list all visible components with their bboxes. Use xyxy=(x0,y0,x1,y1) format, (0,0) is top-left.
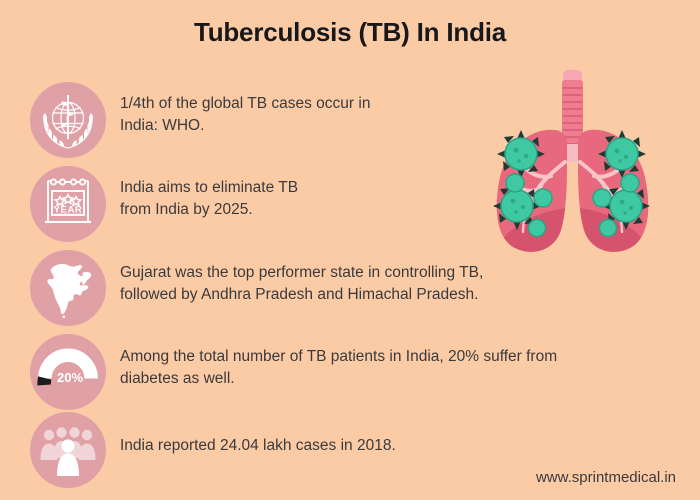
lungs-illustration xyxy=(455,58,690,293)
fact-row: India reported 24.04 lakh cases in 2018. xyxy=(30,412,396,488)
page-title: Tuberculosis (TB) In India xyxy=(0,17,700,48)
bacteria-icon xyxy=(497,130,545,178)
bacteria-icon xyxy=(593,189,611,207)
fact-row: YEAR India aims to eliminate TB from Ind… xyxy=(30,166,298,242)
fact-row: Gujarat was the top performer state in c… xyxy=(30,250,483,326)
fact-row: 1/4th of the global TB cases occur in In… xyxy=(30,82,370,158)
donut-value-label: 20% xyxy=(57,370,83,385)
infographic-canvas: Tuberculosis (TB) In India xyxy=(0,0,700,500)
fact-row: 20% Among the total number of TB patient… xyxy=(30,334,557,410)
bacteria-icon xyxy=(534,189,552,207)
bacteria-icon xyxy=(598,130,646,178)
fact-text: India reported 24.04 lakh cases in 2018. xyxy=(120,412,396,457)
calendar-year-icon: YEAR xyxy=(30,166,106,242)
people-group-icon xyxy=(30,412,106,488)
fact-text: Among the total number of TB patients in… xyxy=(120,334,557,391)
bacteria-icon xyxy=(506,174,524,192)
india-map-icon xyxy=(30,250,106,326)
fact-text: Gujarat was the top performer state in c… xyxy=(120,250,483,307)
fact-text: India aims to eliminate TB from India by… xyxy=(120,166,298,222)
bacteria-icon xyxy=(529,220,546,237)
bacteria-icon xyxy=(621,174,639,192)
footer-url: www.sprintmedical.in xyxy=(536,469,676,486)
fact-text: 1/4th of the global TB cases occur in In… xyxy=(120,82,370,138)
who-logo-icon xyxy=(30,82,106,158)
donut-chart-icon: 20% xyxy=(30,334,106,410)
bacteria-icon xyxy=(600,220,617,237)
